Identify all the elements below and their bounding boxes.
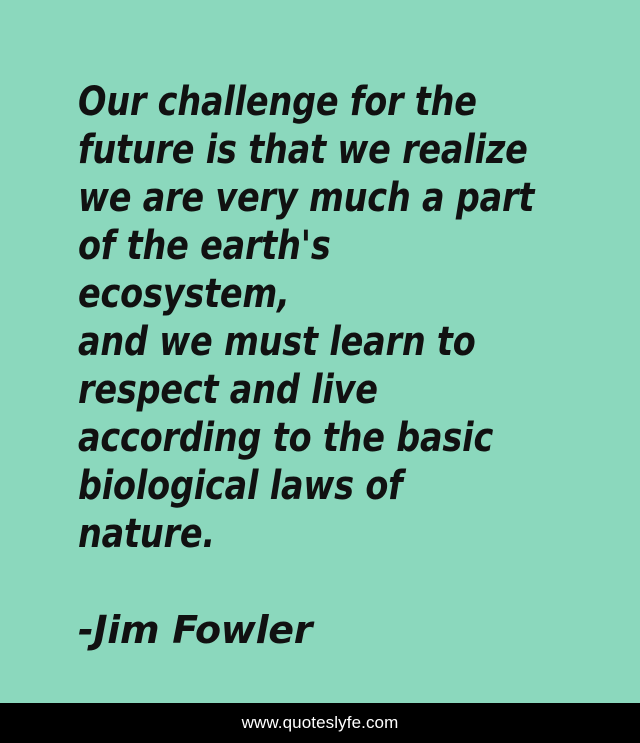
quote-attribution: -Jim Fowler (78, 558, 580, 654)
quote-card: Our challenge for the future is that we … (0, 0, 640, 743)
footer-bar: www.quoteslyfe.com (0, 703, 640, 743)
quote-text: Our challenge for the future is that we … (78, 78, 545, 558)
footer-website-url[interactable]: www.quoteslyfe.com (242, 713, 399, 733)
quote-content-area: Our challenge for the future is that we … (0, 0, 640, 654)
